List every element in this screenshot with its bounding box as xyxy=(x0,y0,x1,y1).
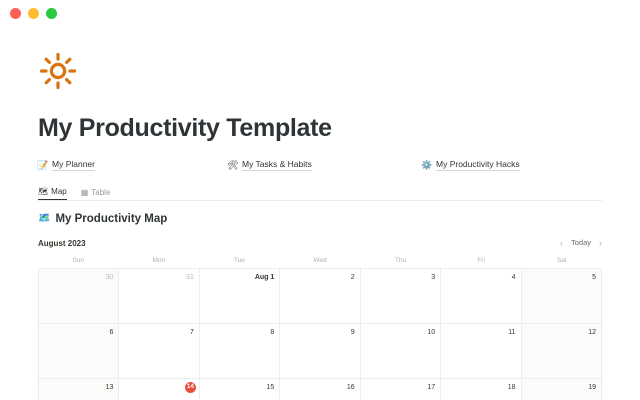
calendar-today-badge: 14 xyxy=(185,382,196,393)
calendar-weekday-sat: Sat xyxy=(521,257,602,268)
map-emoji-icon: 🗺️ xyxy=(38,214,50,224)
memo-icon: 📝 xyxy=(38,160,48,170)
calendar-day-cell[interactable]: 18 xyxy=(441,379,521,400)
maximize-window-button[interactable] xyxy=(46,8,57,19)
gear-icon: ⚙️ xyxy=(422,160,432,170)
tab-map-label: Map xyxy=(51,187,67,196)
calendar-weekday-sun: Sun xyxy=(38,257,119,268)
link-my-tasks-habits-label: My Tasks & Habits xyxy=(242,159,312,171)
calendar-day-number: 9 xyxy=(280,328,354,338)
calendar-day-number: 4 xyxy=(441,273,515,283)
calendar-day-number: Aug 1 xyxy=(200,273,274,283)
view-tab-bar: 🗺 Map ▦ Table xyxy=(38,183,602,201)
calendar-toolbar: August 2023 ‹ Today › xyxy=(38,236,602,250)
calendar-day-number: 8 xyxy=(200,328,274,338)
calendar-day-cell[interactable]: 4 xyxy=(441,269,521,324)
calendar-day-cell[interactable]: 11 xyxy=(441,324,521,379)
calendar-nav: ‹ Today › xyxy=(560,239,602,248)
calendar-day-number: 13 xyxy=(39,383,113,393)
calendar-day-number: 31 xyxy=(119,273,193,283)
calendar-day-number: 6 xyxy=(39,328,113,338)
calendar-day-number: 16 xyxy=(280,383,354,393)
calendar-day-number: 5 xyxy=(522,273,596,283)
calendar-weekday-mon: Mon xyxy=(119,257,200,268)
calendar-day-number: 2 xyxy=(280,273,354,283)
calendar-weekday-thu: Thu xyxy=(360,257,441,268)
calendar-day-cell[interactable]: 13 xyxy=(39,379,119,400)
calendar-weekday-header: SunMonTueWedThuFriSat xyxy=(38,257,602,268)
map-view-icon: 🗺 xyxy=(38,188,48,196)
map-section-heading-label: My Productivity Map xyxy=(55,213,167,225)
link-my-productivity-hacks-label: My Productivity Hacks xyxy=(436,159,520,171)
page-content: My Productivity Template 📝 My Planner 🛠 … xyxy=(0,51,640,400)
calendar-day-number: 19 xyxy=(522,383,596,393)
minimize-window-button[interactable] xyxy=(28,8,39,19)
calendar-day-cell[interactable]: 10 xyxy=(361,324,441,379)
calendar-day-number: 3 xyxy=(361,273,435,283)
calendar-day-number: 18 xyxy=(441,383,515,393)
calendar-day-cell[interactable]: 8 xyxy=(200,324,280,379)
window-titlebar xyxy=(0,0,640,26)
tab-table[interactable]: ▦ Table xyxy=(81,188,111,200)
calendar-day-cell[interactable]: 2 xyxy=(280,269,360,324)
tab-map[interactable]: 🗺 Map xyxy=(38,187,67,200)
calendar-day-cell[interactable]: 6 xyxy=(39,324,119,379)
calendar-month-label: August 2023 xyxy=(38,239,86,248)
tab-table-label: Table xyxy=(91,188,110,197)
calendar-day-cell[interactable]: 9 xyxy=(280,324,360,379)
map-section-heading: 🗺️ My Productivity Map xyxy=(38,213,602,225)
calendar-day-cell[interactable]: 7 xyxy=(119,324,199,379)
calendar-prev-button[interactable]: ‹ xyxy=(560,239,563,248)
calendar-day-cell[interactable]: 14 xyxy=(119,379,199,400)
calendar-day-cell[interactable]: 19 xyxy=(522,379,602,400)
calendar-day-cell[interactable]: 30 xyxy=(39,269,119,324)
tools-icon: 🛠 xyxy=(228,160,238,170)
calendar-day-cell[interactable]: 15 xyxy=(200,379,280,400)
calendar-day-cell[interactable]: Aug 1 xyxy=(200,269,280,324)
calendar-day-number: 11 xyxy=(441,328,515,338)
calendar-day-cell[interactable]: 5 xyxy=(522,269,602,324)
calendar-day-number: 30 xyxy=(39,273,113,283)
calendar-day-cell[interactable]: 31 xyxy=(119,269,199,324)
calendar-weekday-tue: Tue xyxy=(199,257,280,268)
page-title: My Productivity Template xyxy=(38,113,602,143)
table-view-icon: ▦ xyxy=(81,189,89,197)
calendar-weekday-fri: Fri xyxy=(441,257,522,268)
calendar-day-number: 15 xyxy=(200,383,274,393)
calendar-grid: 3031Aug 12345678910111213141516171819 xyxy=(38,268,602,400)
calendar-day-number: 12 xyxy=(522,328,596,338)
calendar-day-cell[interactable]: 16 xyxy=(280,379,360,400)
sun-icon[interactable] xyxy=(38,51,78,91)
link-my-productivity-hacks[interactable]: ⚙️ My Productivity Hacks xyxy=(422,159,520,171)
calendar-next-button[interactable]: › xyxy=(599,239,602,248)
calendar-weekday-wed: Wed xyxy=(280,257,361,268)
document-links-row: 📝 My Planner 🛠 My Tasks & Habits ⚙️ My P… xyxy=(38,157,602,173)
close-window-button[interactable] xyxy=(10,8,21,19)
calendar-day-cell[interactable]: 17 xyxy=(361,379,441,400)
calendar-today-button[interactable]: Today xyxy=(571,239,591,247)
link-my-tasks-habits[interactable]: 🛠 My Tasks & Habits xyxy=(228,159,422,171)
calendar-day-number: 10 xyxy=(361,328,435,338)
link-my-planner-label: My Planner xyxy=(52,159,95,171)
calendar-day-number: 7 xyxy=(119,328,193,338)
calendar-day-cell[interactable]: 3 xyxy=(361,269,441,324)
calendar-day-cell[interactable]: 12 xyxy=(522,324,602,379)
calendar-day-number: 17 xyxy=(361,383,435,393)
link-my-planner[interactable]: 📝 My Planner xyxy=(38,159,228,171)
